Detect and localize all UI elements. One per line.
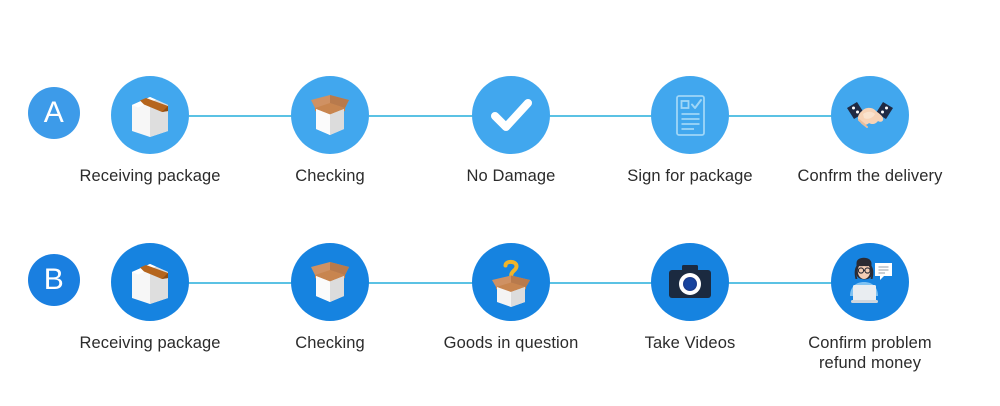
signed-document-icon xyxy=(651,76,729,154)
step-label: Confirm problem refund money xyxy=(790,333,950,373)
step-a-receiving-package[interactable]: Receiving package xyxy=(70,55,230,186)
step-label: Checking xyxy=(250,166,410,186)
step-b-confirm-refund[interactable]: Confirm problem refund money xyxy=(790,222,950,373)
step-label: No Damage xyxy=(431,166,591,186)
delivery-process-diagram: A Receiving package xyxy=(0,0,1000,406)
step-b-take-videos[interactable]: Take Videos xyxy=(610,222,770,353)
badge-a: A xyxy=(28,87,80,139)
process-row-b: B Receiving package xyxy=(0,222,1000,382)
step-b-goods-in-question[interactable]: Goods in question xyxy=(431,222,591,353)
step-label: Take Videos xyxy=(610,333,770,353)
camera-icon xyxy=(651,243,729,321)
check-mark-icon xyxy=(472,76,550,154)
badge-b: B xyxy=(28,254,80,306)
step-label: Goods in question xyxy=(431,333,591,353)
open-box-icon xyxy=(291,243,369,321)
step-a-sign-for-package[interactable]: Sign for package xyxy=(610,55,770,186)
step-b-receiving-package[interactable]: Receiving package xyxy=(70,222,230,353)
support-agent-icon xyxy=(831,243,909,321)
handshake-icon xyxy=(831,76,909,154)
step-label: Checking xyxy=(250,333,410,353)
process-row-a: A Receiving package xyxy=(0,55,1000,215)
question-box-icon xyxy=(472,243,550,321)
step-a-confirm-delivery[interactable]: Confrm the delivery xyxy=(790,55,950,186)
step-b-checking[interactable]: Checking xyxy=(250,222,410,353)
step-a-checking[interactable]: Checking xyxy=(250,55,410,186)
open-box-icon xyxy=(291,76,369,154)
badge-b-label: B xyxy=(44,265,65,295)
badge-a-label: A xyxy=(44,98,65,128)
step-label: Receiving package xyxy=(70,166,230,186)
package-box-icon xyxy=(111,76,189,154)
step-label: Confrm the delivery xyxy=(790,166,950,186)
step-label: Sign for package xyxy=(610,166,770,186)
step-label: Receiving package xyxy=(70,333,230,353)
step-a-no-damage[interactable]: No Damage xyxy=(431,55,591,186)
package-box-icon xyxy=(111,243,189,321)
